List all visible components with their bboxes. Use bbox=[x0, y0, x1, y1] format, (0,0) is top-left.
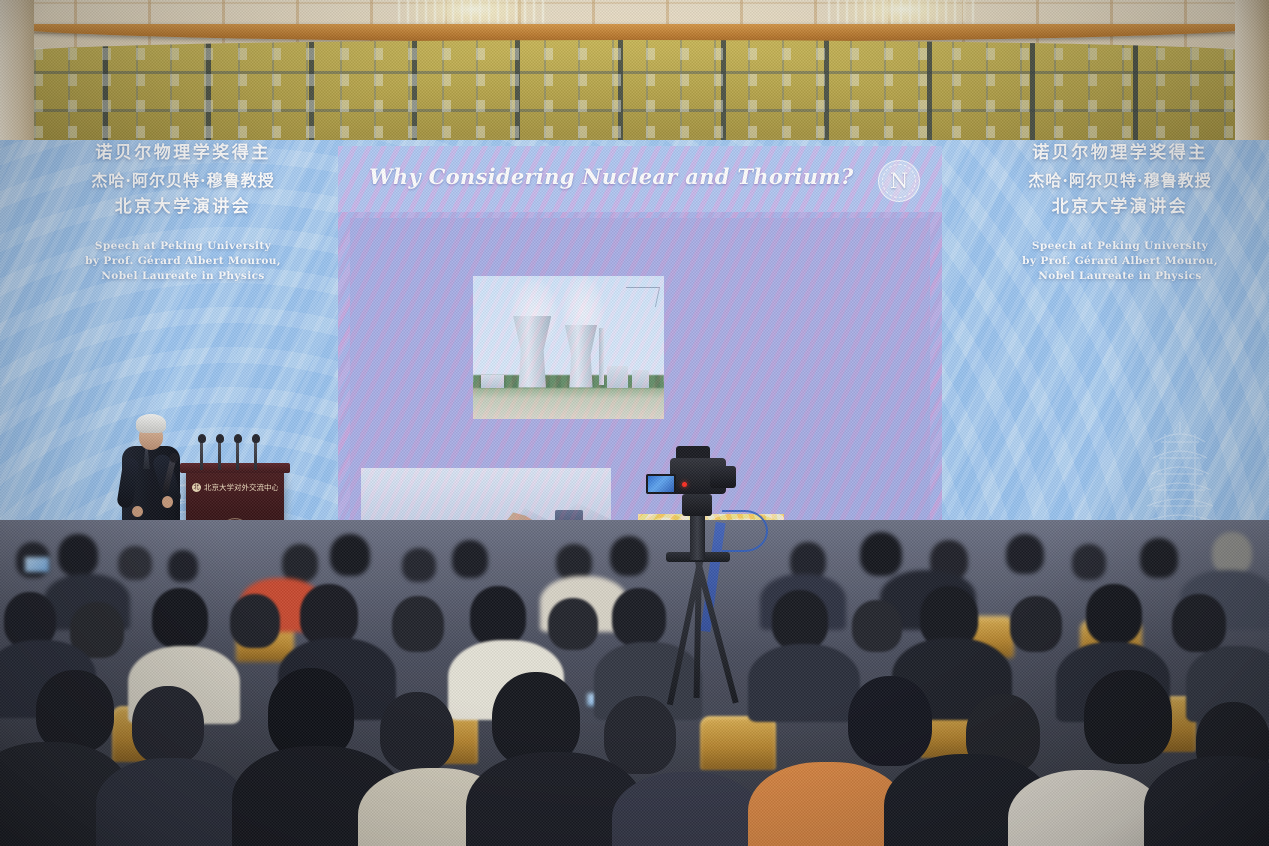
university-seal-icon: N bbox=[878, 160, 920, 202]
recording-light-icon bbox=[682, 482, 687, 487]
camera-lcd-screen bbox=[646, 474, 676, 494]
slide-title: Why Considering Nuclear and Thorium? bbox=[369, 164, 853, 189]
tripod-column bbox=[690, 514, 705, 560]
gold-panel-wall bbox=[0, 40, 1269, 150]
lecture-hall-photo: 诺贝尔物理学奖得主 杰哈·阿尔贝特·穆鲁教授 北京大学演讲会 Speech at… bbox=[0, 0, 1269, 846]
banner-right-line1: 诺贝尔物理学奖得主 bbox=[995, 140, 1245, 167]
camera-viewfinder bbox=[676, 446, 710, 458]
camera-cable bbox=[722, 510, 768, 552]
banner-left-en3: Nobel Laureate in Physics bbox=[58, 269, 308, 284]
banner-left-en1: Speech at Peking University bbox=[58, 239, 308, 254]
video-camera-on-tripod bbox=[648, 452, 768, 712]
wall-pillar-right bbox=[1235, 0, 1269, 150]
camera-lens-icon bbox=[710, 466, 736, 488]
podium-microphone-4 bbox=[254, 440, 257, 470]
lectern-sign-text: 北京大学对外交流中心 bbox=[204, 482, 278, 493]
banner-left-line2: 杰哈·阿尔贝特·穆鲁教授 bbox=[58, 167, 308, 194]
banner-left-line1: 诺贝尔物理学奖得主 bbox=[58, 140, 308, 167]
banner-left-en2: by Prof. Gérard Albert Mourou, bbox=[58, 254, 308, 269]
banner-left-line3: 北京大学演讲会 bbox=[58, 194, 308, 221]
audience-area bbox=[0, 520, 1269, 846]
slide-content-area bbox=[350, 218, 930, 548]
presentation-slide: Why Considering Nuclear and Thorium? N bbox=[338, 146, 942, 554]
backdrop-banner-left: 诺贝尔物理学奖得主 杰哈·阿尔贝特·穆鲁教授 北京大学演讲会 Speech at… bbox=[58, 140, 308, 284]
nuclear-power-plant-photo bbox=[473, 276, 664, 419]
pku-mark-icon: 北 bbox=[192, 483, 201, 492]
banner-right-line3: 北京大学演讲会 bbox=[995, 194, 1245, 221]
banner-right-en1: Speech at Peking University bbox=[995, 239, 1245, 254]
tripod-head bbox=[682, 494, 712, 516]
banner-right-en3: Nobel Laureate in Physics bbox=[995, 269, 1245, 284]
podium-microphone-2 bbox=[218, 440, 221, 470]
seal-letter: N bbox=[890, 171, 908, 192]
podium-microphone-3 bbox=[236, 440, 239, 470]
wall-pillar-left bbox=[0, 0, 34, 150]
banner-right-en2: by Prof. Gérard Albert Mourou, bbox=[995, 254, 1245, 269]
podium-microphone-1 bbox=[200, 440, 203, 470]
tripod-leg-3 bbox=[694, 558, 702, 698]
banner-right-line2: 杰哈·阿尔贝特·穆鲁教授 bbox=[995, 167, 1245, 194]
backdrop-banner-right: 诺贝尔物理学奖得主 杰哈·阿尔贝特·穆鲁教授 北京大学演讲会 Speech at… bbox=[995, 140, 1245, 284]
lectern-sign: 北 北京大学对外交流中心 bbox=[192, 480, 278, 495]
audience-phone-1 bbox=[24, 556, 50, 573]
